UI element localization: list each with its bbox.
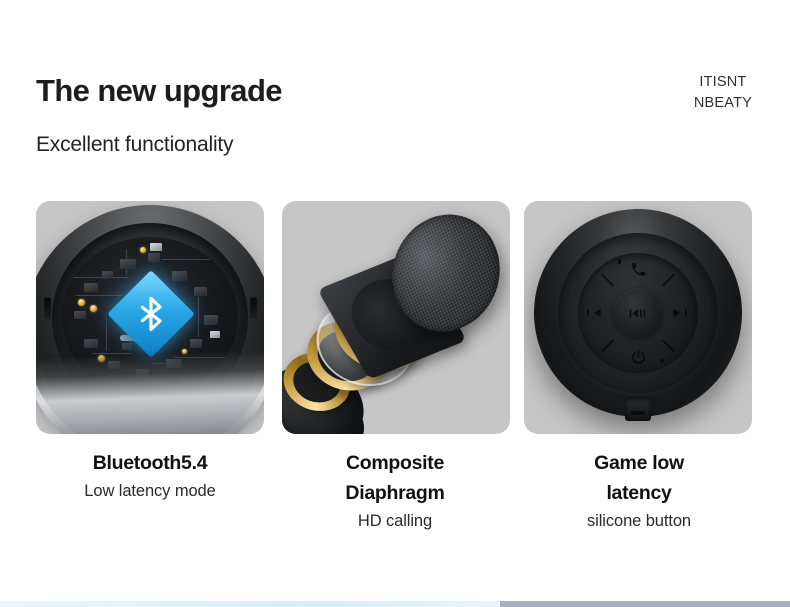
bluetooth-chip-circuit-board-image (36, 201, 264, 434)
feature-card-bluetooth[interactable] (36, 201, 264, 434)
power-icon[interactable] (626, 347, 650, 367)
status-led (618, 259, 621, 264)
composite-diaphragm-speaker-driver-image (282, 201, 510, 434)
charging-port (625, 397, 651, 421)
brand-line-2: NBEATY (694, 93, 752, 114)
feature-card-diaphragm[interactable] (282, 201, 510, 434)
previous-track-icon[interactable] (583, 305, 605, 321)
caption-diaphragm: Composite Diaphragm HD calling (270, 448, 520, 534)
caption-bluetooth: Bluetooth5.4 Low latency mode (25, 448, 275, 504)
page-subtitle: Excellent functionality (36, 132, 233, 157)
scrollbar-thumb[interactable] (500, 601, 790, 607)
page-title: The new upgrade (36, 74, 282, 108)
caption-title-line-1: Composite (270, 448, 520, 478)
speaker-control-panel-buttons-image (524, 201, 752, 434)
next-track-icon[interactable] (669, 305, 691, 321)
feature-card-controls[interactable] (524, 201, 752, 434)
caption-controls: Game low latency silicone button (514, 448, 764, 534)
horizontal-scrollbar[interactable] (0, 601, 790, 607)
product-feature-page: The new upgrade Excellent functionality … (0, 0, 790, 607)
caption-title-line-1: Game low (514, 448, 764, 478)
brand-logo-text: ITISNT NBEATY (694, 72, 752, 113)
page-header: The new upgrade Excellent functionality … (0, 0, 790, 190)
caption-subtitle: silicone button (514, 509, 764, 534)
caption-subtitle: HD calling (270, 509, 520, 534)
brand-line-1: ITISNT (694, 72, 752, 93)
caption-subtitle: Low latency mode (25, 479, 275, 504)
caption-title-line-2: latency (514, 478, 764, 508)
caption-title-line-2: Diaphragm (270, 478, 520, 508)
metallic-rim (36, 231, 264, 434)
call-icon[interactable] (626, 261, 650, 277)
play-pause-icon[interactable] (625, 304, 651, 322)
feature-cards-row (0, 201, 790, 434)
microphone-hole (660, 359, 664, 363)
caption-title: Bluetooth5.4 (25, 448, 275, 478)
